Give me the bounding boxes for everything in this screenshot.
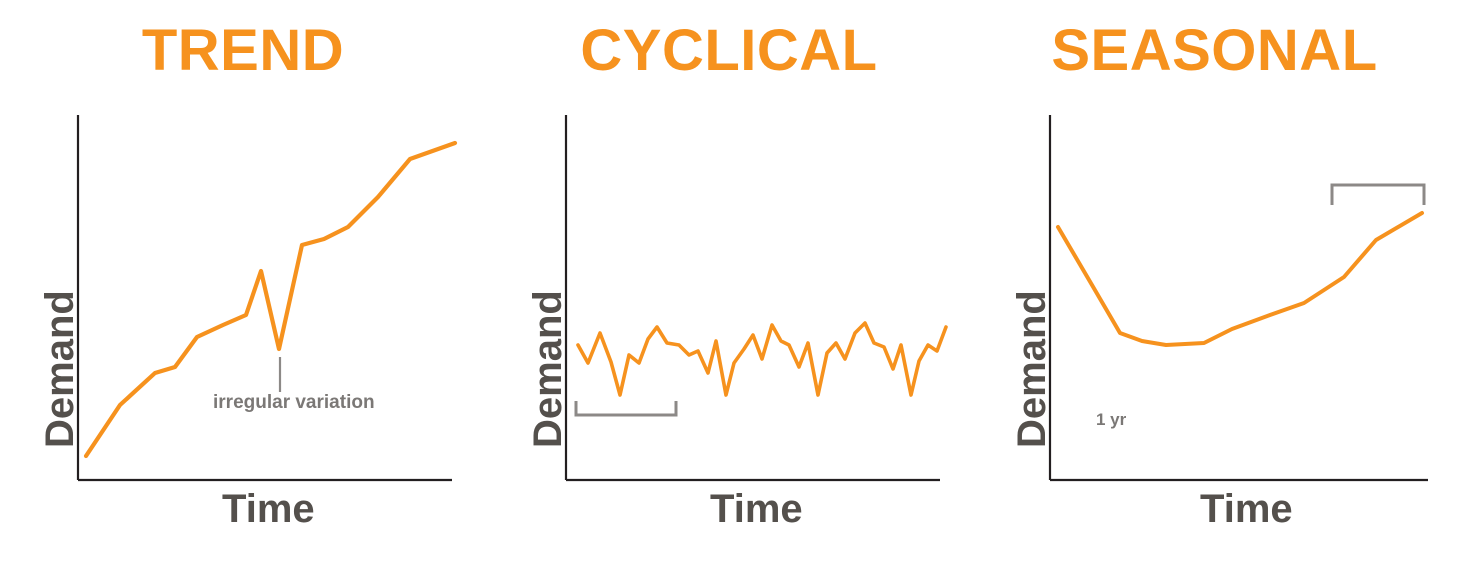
nov-dec-bracket bbox=[1332, 185, 1424, 205]
trend-chart-svg bbox=[60, 105, 480, 495]
cyclical-demand-line bbox=[578, 323, 946, 395]
one-year-bracket bbox=[576, 401, 676, 415]
panel-seasonal: SEASONAL Demand Time Nov - Dec bbox=[972, 0, 1457, 565]
cyclical-chart-svg bbox=[548, 105, 968, 495]
panel-title-cyclical: CYCLICAL bbox=[486, 22, 972, 80]
panel-title-seasonal: SEASONAL bbox=[972, 22, 1457, 80]
seasonal-chart-svg bbox=[1032, 105, 1457, 495]
infographic-root: TREND Demand Time irregular variation CY… bbox=[0, 0, 1457, 565]
seasonal-demand-line bbox=[1058, 213, 1422, 345]
panel-trend: TREND Demand Time irregular variation bbox=[0, 0, 486, 565]
annotation-irregular-variation: irregular variation bbox=[213, 392, 375, 414]
panel-cyclical: CYCLICAL Demand Time 1 yr bbox=[486, 0, 972, 565]
panel-title-trend: TREND bbox=[0, 22, 486, 80]
